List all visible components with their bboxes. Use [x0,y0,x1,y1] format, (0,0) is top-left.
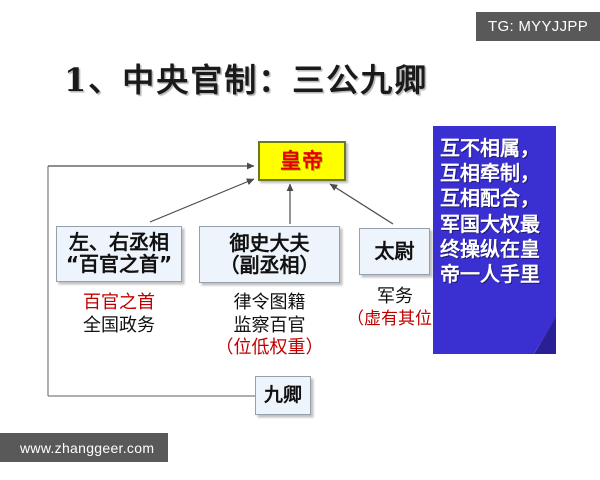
node-commandant-label: 太尉 [375,241,415,263]
node-emperor[interactable]: 皇帝 [258,141,346,181]
node-chancellor-line2: “百官之首” [66,254,172,276]
caption-censor-black-1: 律令图籍 [199,292,340,315]
node-censor[interactable]: 御史大夫 （副丞相） [199,226,340,283]
caption-commandant-black: 军务 [347,286,443,309]
caption-censor: 律令图籍 监察百官 （位低权重） [199,292,340,360]
node-emperor-label: 皇帝 [280,150,324,173]
node-chancellor-line1: 左、右丞相 [69,232,169,254]
node-commandant[interactable]: 太尉 [359,228,430,275]
node-censor-line1: 御史大夫 [230,233,310,255]
caption-censor-black-2: 监察百官 [199,315,340,338]
telegram-watermark: TG: MYYJJPP [476,12,600,41]
caption-commandant: 军务 （虚有其位） [347,286,443,330]
summary-line-3: 互相配合， [440,186,552,211]
caption-chancellor-red: 百官之首 [56,292,182,315]
summary-panel-text: 互不相属， 互相牵制， 互相配合， 军国大权最 终操纵在皇 帝一人手里 [433,126,556,354]
node-chancellor[interactable]: 左、右丞相 “百官之首” [56,226,182,282]
node-nine-ministers-label: 九卿 [264,385,302,406]
caption-chancellor-black: 全国政务 [56,315,182,338]
summary-line-4: 军国大权最 [440,212,552,237]
summary-line-5: 终操纵在皇 [440,237,552,262]
caption-commandant-red: （虚有其位） [347,309,443,330]
site-watermark: www.zhanggeer.com [0,433,168,462]
slide-canvas: 1、中央官制：三公九卿 皇帝 左、右丞相 “百官之首” 百官之首 全国政务 御史… [0,0,600,480]
node-censor-line2: （副丞相） [220,255,320,277]
page-title: 1、中央官制：三公九卿 [64,55,428,101]
node-nine-ministers[interactable]: 九卿 [255,376,311,415]
caption-chancellor: 百官之首 全国政务 [56,292,182,337]
caption-censor-red: （位低权重） [199,337,340,360]
summary-line-6: 帝一人手里 [440,262,552,287]
summary-line-2: 互相牵制， [440,161,552,186]
summary-line-1: 互不相属， [440,136,552,161]
